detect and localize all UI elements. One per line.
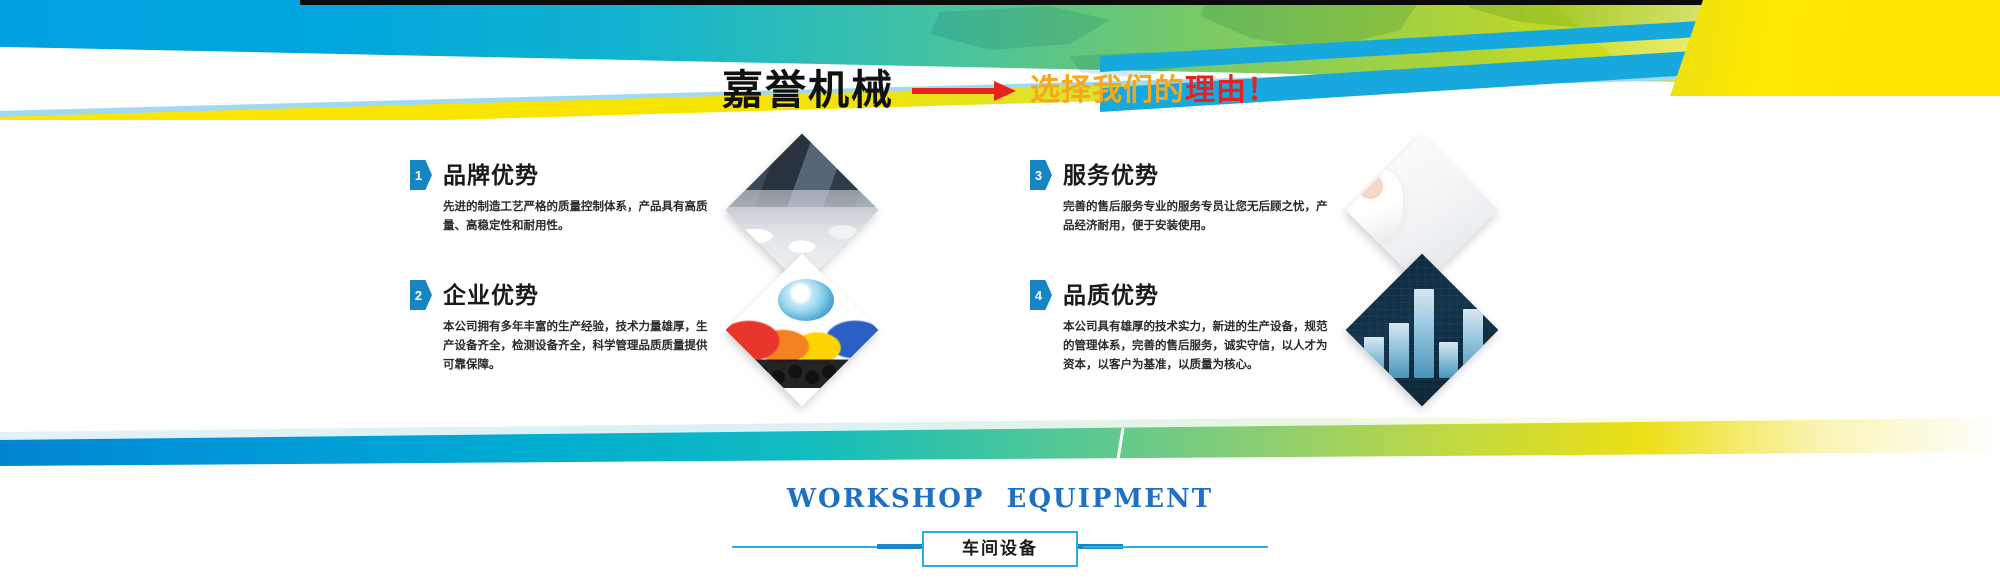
features-grid: 1 品牌优势 先进的制造工艺严格的质量控制体系，产品具有高质量、高稳定性和耐用性…	[410, 160, 1630, 410]
feature-description: 本公司拥有多年丰富的生产经验，技术力量雄厚，生产设备齐全，检测设备齐全，科学管理…	[443, 318, 715, 375]
feature-number-badge: 1	[410, 160, 432, 190]
section-heading: WORKSHOP EQUIPMENT 车间设备	[0, 486, 2000, 567]
feature-text-block: 3 服务优势 完善的售后服务专业的服务专员让您无后顾之忧，产品经济耐用，便于安装…	[1030, 160, 1340, 236]
feature-image-business-team	[726, 274, 896, 386]
feature-item-quality: 4 品质优势 本公司具有雄厚的技术实力，新进的生产设备，规范的管理体系，完善的售…	[1030, 280, 1630, 410]
feature-number-badge: 2	[410, 280, 432, 310]
globe-graphic	[778, 279, 834, 321]
feature-text-block: 2 企业优势 本公司拥有多年丰富的生产经验，技术力量雄厚，生产设备齐全，检测设备…	[410, 280, 720, 375]
feature-description: 完善的售后服务专业的服务专员让您无后顾之忧，产品经济耐用，便于安装使用。	[1063, 198, 1335, 236]
feature-heading: 4 品质优势	[1030, 280, 1340, 310]
feature-image-business-meeting	[726, 154, 896, 266]
feature-number-badge: 3	[1030, 160, 1052, 190]
feature-number-badge: 4	[1030, 280, 1052, 310]
feature-heading: 3 服务优势	[1030, 160, 1340, 190]
feature-title: 企业优势	[443, 284, 539, 307]
feature-item-service: 3 服务优势 完善的售后服务专业的服务专员让您无后顾之忧，产品经济耐用，便于安装…	[1030, 160, 1630, 280]
brand-name: 嘉誉机械	[722, 70, 894, 111]
right-arrow-icon	[912, 79, 1016, 103]
bottom-gradient-band	[0, 418, 2000, 484]
feature-text-block: 1 品牌优势 先进的制造工艺严格的质量控制体系，产品具有高质量、高稳定性和耐用性…	[410, 160, 720, 236]
feature-title: 服务优势	[1063, 164, 1159, 187]
feature-image-customer-service	[1346, 154, 1516, 266]
bar-chart-graphic	[1364, 289, 1483, 377]
section-divider: 车间设备	[0, 527, 2000, 567]
feature-image-data-chart	[1346, 274, 1516, 386]
section-chinese-title: 车间设备	[962, 541, 1038, 558]
divider-line-right	[1083, 546, 1268, 548]
feature-heading: 2 企业优势	[410, 280, 720, 310]
title-subtitle: 选择我们的理由！	[1030, 76, 1278, 106]
feature-title: 品质优势	[1063, 284, 1159, 307]
section-chinese-title-box: 车间设备	[922, 531, 1078, 567]
subtitle-part-one: 选择我们的	[1030, 73, 1185, 108]
subtitle-part-two: 理由！	[1185, 73, 1278, 108]
page-title: 嘉誉机械 选择我们的理由！	[0, 70, 2000, 111]
feature-description: 本公司具有雄厚的技术实力，新进的生产设备，规范的管理体系，完善的售后服务，诚实守…	[1063, 318, 1335, 375]
feature-item-brand: 1 品牌优势 先进的制造工艺严格的质量控制体系，产品具有高质量、高稳定性和耐用性…	[410, 160, 1010, 280]
section-english-title: WORKSHOP EQUIPMENT	[0, 486, 2000, 512]
feature-item-enterprise: 2 企业优势 本公司拥有多年丰富的生产经验，技术力量雄厚，生产设备齐全，检测设备…	[410, 280, 1010, 410]
feature-text-block: 4 品质优势 本公司具有雄厚的技术实力，新进的生产设备，规范的管理体系，完善的售…	[1030, 280, 1340, 375]
banner-top-black-bar	[300, 0, 1740, 5]
feature-heading: 1 品牌优势	[410, 160, 720, 190]
feature-title: 品牌优势	[443, 164, 539, 187]
feature-description: 先进的制造工艺严格的质量控制体系，产品具有高质量、高稳定性和耐用性。	[443, 198, 715, 236]
